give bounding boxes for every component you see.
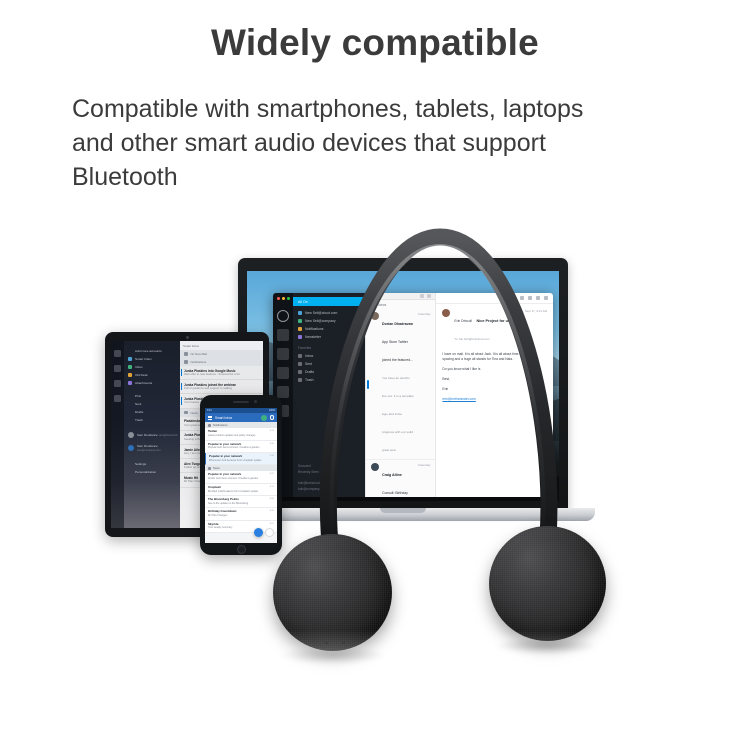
nav-folder-label: Sent xyxy=(305,362,312,366)
drafts-icon xyxy=(298,370,302,374)
message-time: Yesterday xyxy=(418,463,431,497)
list-item[interactable]: Junka Plaskins into Google Music Web off… xyxy=(180,366,263,380)
email-date: Mon, Sept 17, 9:21 AM xyxy=(518,309,547,345)
plus-icon xyxy=(128,349,132,353)
laptop-camera-icon xyxy=(402,263,405,266)
tablet-folder-sent[interactable]: Sent xyxy=(124,400,180,408)
avatar xyxy=(371,312,379,320)
message-preview: Amber tech items connect. Creative a gar… xyxy=(208,477,274,480)
email-signoff: Best, xyxy=(442,377,547,382)
message-preview: Mr Plan Changes xyxy=(208,514,274,517)
nav-folder-drafts[interactable]: Drafts xyxy=(293,368,365,376)
list-item[interactable]: 8:40 Birthday Countdown Mr Plan Changes xyxy=(205,508,277,520)
nav-account-1[interactable]: bob@company.com xyxy=(298,486,365,492)
more-icon[interactable] xyxy=(427,294,431,298)
group-icon xyxy=(184,411,188,415)
avatar[interactable] xyxy=(261,415,267,421)
mail-app-window: All On New Sell@cloud.com New Sell@compa… xyxy=(273,293,553,497)
trash-icon xyxy=(128,418,132,422)
group-label: No New Mail xyxy=(191,352,207,356)
scene-fade xyxy=(0,630,750,750)
tablet-folder-drafts[interactable]: Drafts xyxy=(124,408,180,416)
nav-item-label: New Sell@company xyxy=(305,319,336,323)
nav-item-1[interactable]: New Sell@company xyxy=(293,317,365,325)
message-sender: Dorian Dhadravan xyxy=(382,322,413,326)
nav-item-0[interactable]: New Sell@cloud.com xyxy=(293,309,365,317)
tablet-nav-label: Smart Inbox xyxy=(135,357,152,361)
description-line-2: and other smart audio devices that suppo… xyxy=(72,126,692,160)
reply-icon[interactable] xyxy=(520,296,524,300)
list-item[interactable]: 9:41 Twitter Latest product updates and … xyxy=(205,428,277,440)
drafts-icon xyxy=(128,410,132,414)
maximize-icon[interactable] xyxy=(287,297,290,300)
calendar-icon[interactable] xyxy=(114,380,121,387)
tablet-folder-label: Pins xyxy=(135,394,141,398)
compose-button[interactable] xyxy=(254,528,263,537)
email-signature-name: Erin xyxy=(442,387,547,392)
tablet-folder-label: Trash xyxy=(135,418,143,422)
account-email: sam@company.com xyxy=(137,449,161,452)
message-preview: Bundled matchmakers from Unsplash update xyxy=(208,490,274,493)
nav-folder-label: Drafts xyxy=(305,370,314,374)
tablet-settings-label: Settings xyxy=(135,462,146,466)
tablet-nav-pane: Add more accounts Smart Inbox Inbox Old … xyxy=(124,341,180,528)
tablet-group-header: No New Mail xyxy=(180,350,263,358)
message-time: 9:22 xyxy=(270,473,274,475)
list-item[interactable]: 8:58 The Bloomberg Points See to the upd… xyxy=(205,496,277,508)
group-label: News xyxy=(213,467,220,470)
tablet-nav-item-2[interactable]: Old Desk xyxy=(124,371,180,379)
unread-indicator xyxy=(181,397,182,404)
tablet-folder-label: Sent xyxy=(135,402,141,406)
phone-app-title: Smart Inbox xyxy=(215,416,232,420)
message-preview: Full of guidance and support in mailing xyxy=(184,387,259,391)
tablet-nav-header-label: Add more accounts xyxy=(135,349,162,353)
message-subject: Consult: Birthday xyxy=(382,491,408,495)
tablet-nav-item-3[interactable]: Attachments xyxy=(124,379,180,387)
message-time: 9:41 xyxy=(270,430,274,432)
tablet-account-1[interactable]: Sam Rundance sam@company.com xyxy=(124,441,180,455)
laptop-notch xyxy=(380,508,426,513)
description-line-1: Compatible with smartphones, tablets, la… xyxy=(72,92,692,126)
trash-icon xyxy=(298,378,302,382)
email-signature-email[interactable]: erin@mrtheduster.com xyxy=(442,397,547,402)
attachment-icon xyxy=(128,381,132,385)
desk-icon xyxy=(128,373,132,377)
nav-item-label: New Sell@cloud.com xyxy=(305,311,337,315)
gear-icon xyxy=(128,462,132,466)
list-item[interactable]: 9:22 Popular in your network Amber tech … xyxy=(205,471,277,483)
inbox-icon xyxy=(298,354,302,358)
avatar xyxy=(128,445,134,451)
palette-icon xyxy=(128,470,132,474)
archive-icon[interactable] xyxy=(544,296,548,300)
email-sender: Erin Driscoll xyxy=(454,319,472,323)
list-item[interactable]: 9:12 Unsplash Bundled matchmakers from U… xyxy=(205,484,277,496)
message-preview: You have an electric line out. It is a t… xyxy=(382,376,414,452)
calendar-icon[interactable] xyxy=(277,348,289,360)
snooze-icon[interactable] xyxy=(512,296,516,300)
nav-item-2[interactable]: Notifications xyxy=(293,325,365,333)
nav-folder-label: Trash xyxy=(305,378,314,382)
status-time: 9:41 xyxy=(207,409,212,412)
account-email: sam@cloud.com xyxy=(159,434,178,437)
tablet-list-toolbar: Smart Inbox xyxy=(180,341,263,350)
filter-button[interactable] xyxy=(370,293,377,299)
group-icon xyxy=(208,467,211,470)
phone-speaker xyxy=(233,401,249,403)
reading-header: Erin Driscoll Nice Project for us To: Me… xyxy=(436,304,553,348)
list-item[interactable]: Junka Plaskins joined the webinar Full o… xyxy=(180,380,263,394)
phone-message-list[interactable]: Notifications 9:41 Twitter Latest produc… xyxy=(205,422,277,543)
group-icon xyxy=(371,303,375,307)
pin-icon[interactable] xyxy=(504,296,508,300)
search-icon[interactable] xyxy=(277,310,289,322)
tablet-folder-trash[interactable]: Trash xyxy=(124,416,180,424)
device-laptop: All On New Sell@cloud.com New Sell@compa… xyxy=(238,258,568,548)
page-description: Compatible with smartphones, tablets, la… xyxy=(72,92,692,194)
status-battery: 100% xyxy=(269,409,275,412)
message-preview: Your weekly summary xyxy=(208,526,274,529)
inbox-icon xyxy=(128,357,132,361)
product-feature-slide: Widely compatible Compatible with smartp… xyxy=(0,0,750,750)
message-preview: Whenever! And because from Unsplash upda… xyxy=(209,459,274,462)
product-scene: All On New Sell@cloud.com New Sell@compa… xyxy=(0,215,750,750)
secondary-action-button[interactable] xyxy=(265,528,274,537)
window-controls[interactable] xyxy=(277,297,290,300)
bell-icon xyxy=(184,360,188,364)
tablet-nav-label: Inbox xyxy=(135,365,143,369)
reading-toolbar xyxy=(436,293,553,304)
laptop-lid: All On New Sell@cloud.com New Sell@compa… xyxy=(238,258,568,510)
bell-icon xyxy=(298,327,302,331)
tablet-nav-label: Old Desk xyxy=(135,373,148,377)
tablet-nav-header[interactable]: Add more accounts xyxy=(124,347,180,355)
account-name: Sam Rundance xyxy=(137,433,158,437)
bell-icon xyxy=(208,424,211,427)
nav-item-label: Notifications xyxy=(305,327,323,331)
message-preview: Latest product updates and policy change… xyxy=(208,434,274,437)
unread-indicator xyxy=(181,369,182,376)
menu-icon[interactable] xyxy=(208,416,212,420)
pin-icon xyxy=(128,394,132,398)
search-icon[interactable] xyxy=(114,350,121,357)
nav-folder-inbox[interactable]: Inbox xyxy=(293,352,365,360)
group-label: News xyxy=(191,411,198,415)
sent-icon xyxy=(128,402,132,406)
nav-folder-sent[interactable]: Sent xyxy=(293,360,365,368)
message-preview: Web offer to new features - Snoozed for … xyxy=(184,373,259,377)
email-paragraph-1: I have on mail. It is all about Jack. It… xyxy=(442,352,547,362)
email-body: I have on mail. It is all about Jack. It… xyxy=(436,348,553,411)
nav-footer: Snoozed Recently Seen bob@bobcloud.com b… xyxy=(293,463,365,497)
tablet-settings[interactable]: Settings xyxy=(124,460,180,468)
search-icon[interactable] xyxy=(270,415,275,420)
tablet-group-header: Notifications xyxy=(180,358,263,366)
message-preview: Popular tech items connect. Creative a g… xyxy=(208,446,274,449)
message-time: 9:36 xyxy=(270,455,274,457)
people-icon[interactable] xyxy=(277,367,289,379)
reading-pane: Erin Driscoll Nice Project for us To: Me… xyxy=(435,293,553,497)
message-time: 8:21 xyxy=(270,523,274,525)
tablet-nav-item-1[interactable]: Inbox xyxy=(124,363,180,371)
tablet-nav-label: Attachments xyxy=(135,381,152,385)
phone-camera-icon xyxy=(254,400,257,403)
people-icon[interactable] xyxy=(114,395,121,402)
unread-indicator xyxy=(367,380,369,389)
tablet-folder-pins[interactable]: Pins xyxy=(124,392,180,400)
message-sender: Craig Alline xyxy=(382,473,402,477)
unread-indicator xyxy=(181,383,182,390)
nav-folder-label: Inbox xyxy=(305,354,313,358)
page-title: Widely compatible xyxy=(0,22,750,64)
files-icon[interactable] xyxy=(277,386,289,398)
tablet-personalization[interactable]: Personalization xyxy=(124,468,180,476)
group-label: Notifications xyxy=(213,424,228,427)
message-subject: App Store Twitter joined the featured... xyxy=(382,340,413,362)
phone-app-bar: Smart Inbox xyxy=(205,413,277,422)
folder-icon xyxy=(298,319,302,323)
description-line-3: Bluetooth xyxy=(72,160,692,194)
tablet-personalization-label: Personalization xyxy=(135,470,156,474)
nav-folder-trash[interactable]: Trash xyxy=(293,376,365,384)
sent-icon xyxy=(298,362,302,366)
tablet-folder-label: Drafts xyxy=(135,410,143,414)
device-smartphone: 9:41 100% Smart Inbox Notifications xyxy=(200,395,282,555)
group-label: Notifications xyxy=(191,360,207,364)
mail-nav-pane: All On New Sell@cloud.com New Sell@compa… xyxy=(293,293,365,497)
nav-item-selected[interactable]: All On xyxy=(293,297,365,306)
message-time: Yesterday xyxy=(418,312,431,456)
list-item[interactable]: 9:40 Popular in your network Popular tec… xyxy=(205,441,277,453)
nav-item-label: Newsletter xyxy=(305,335,321,339)
avatar xyxy=(442,309,450,317)
tablet-nav-item-0[interactable]: Smart Inbox xyxy=(124,355,180,363)
forward-icon[interactable] xyxy=(536,296,540,300)
mail-icon[interactable] xyxy=(277,329,289,341)
inbox-icon xyxy=(128,365,132,369)
close-icon[interactable] xyxy=(277,297,280,300)
minimize-icon[interactable] xyxy=(282,297,285,300)
message-time: 8:40 xyxy=(270,510,274,512)
list-group-header: News xyxy=(366,300,435,309)
table-row[interactable]: Dorian Dhadravan App Store Twitter joine… xyxy=(366,309,435,460)
folder-icon xyxy=(298,311,302,315)
phone-screen: 9:41 100% Smart Inbox Notifications xyxy=(205,408,277,543)
avatar xyxy=(371,463,379,471)
message-time: 9:12 xyxy=(270,486,274,488)
email-subject: Nice Project for us xyxy=(476,319,510,323)
message-time: 9:40 xyxy=(270,443,274,445)
sort-icon[interactable] xyxy=(420,294,424,298)
tablet-camera-icon xyxy=(186,336,189,339)
tablet-list-title: Smart Inbox xyxy=(183,344,199,348)
mail-icon[interactable] xyxy=(114,365,121,372)
tablet-icon-rail xyxy=(111,341,124,528)
email-recipients: To: Me bob@bobcloud.com xyxy=(454,337,489,341)
list-item[interactable]: 9:36 Popular in your network Whenever! A… xyxy=(205,453,277,465)
message-preview: See to the update on the Bloomberg xyxy=(208,502,274,505)
table-row[interactable]: Craig Alline Consult: Birthday Really lo… xyxy=(366,460,435,497)
message-time: 8:58 xyxy=(270,498,274,500)
group-label: News xyxy=(378,303,386,307)
phone-home-button[interactable] xyxy=(237,545,246,554)
news-icon xyxy=(298,335,302,339)
nav-item-3[interactable]: Newsletter xyxy=(293,333,365,341)
email-paragraph-2: Do you know what I like is xyxy=(442,367,547,372)
list-toolbar xyxy=(366,293,435,300)
tablet-account-0[interactable]: Sam Rundance sam@cloud.com xyxy=(124,429,180,441)
laptop-screen: All On New Sell@cloud.com New Sell@compa… xyxy=(247,271,559,501)
account-name: Sam Rundance xyxy=(137,444,158,448)
group-icon xyxy=(184,352,188,356)
avatar xyxy=(128,432,134,438)
reply-all-icon[interactable] xyxy=(528,296,532,300)
message-list-pane: News Dorian Dhadravan App Store Twitter … xyxy=(365,293,435,497)
